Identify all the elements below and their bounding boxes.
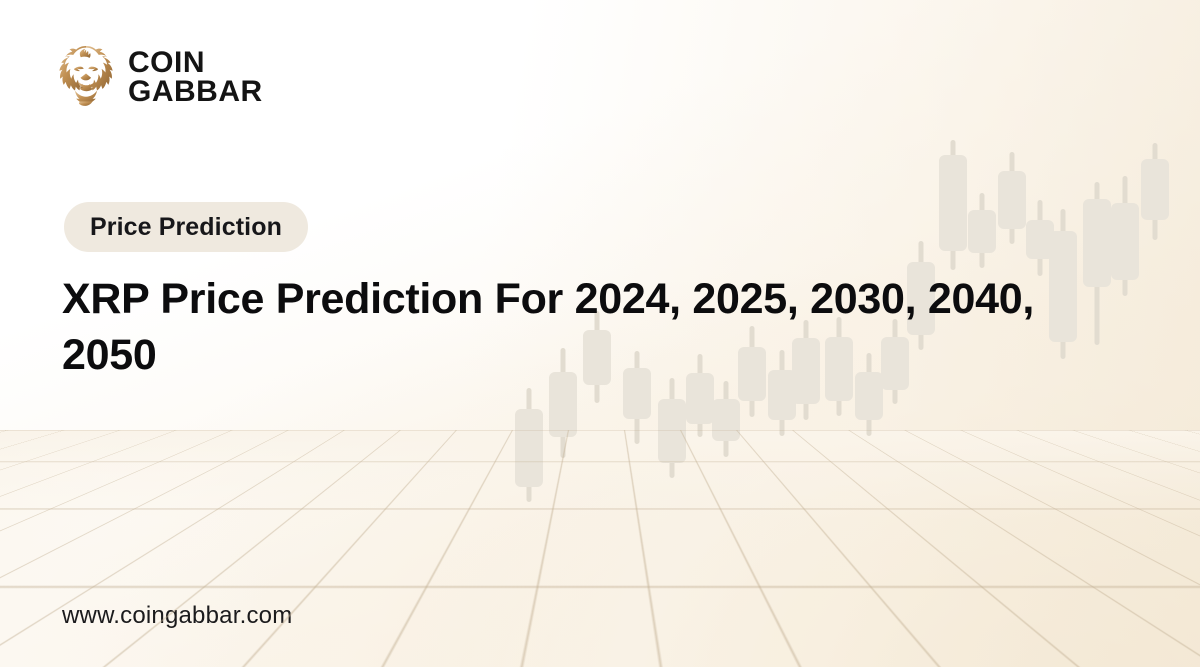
lion-head-icon <box>58 44 114 110</box>
brand-logo[interactable]: COIN GABBAR <box>58 44 263 110</box>
brand-name-line-1: COIN <box>128 48 263 77</box>
perspective-grid-floor <box>0 430 1200 667</box>
page-title: XRP Price Prediction For 2024, 2025, 203… <box>62 272 1072 384</box>
brand-name-line-2: GABBAR <box>128 77 263 106</box>
category-badge-label: Price Prediction <box>90 213 282 242</box>
brand-wordmark: COIN GABBAR <box>128 48 263 106</box>
category-badge[interactable]: Price Prediction <box>64 202 308 252</box>
banner-canvas: COIN GABBAR Price Prediction XRP Price P… <box>0 0 1200 667</box>
grid-fade-overlay <box>0 430 1200 667</box>
site-url: www.coingabbar.com <box>62 602 292 630</box>
